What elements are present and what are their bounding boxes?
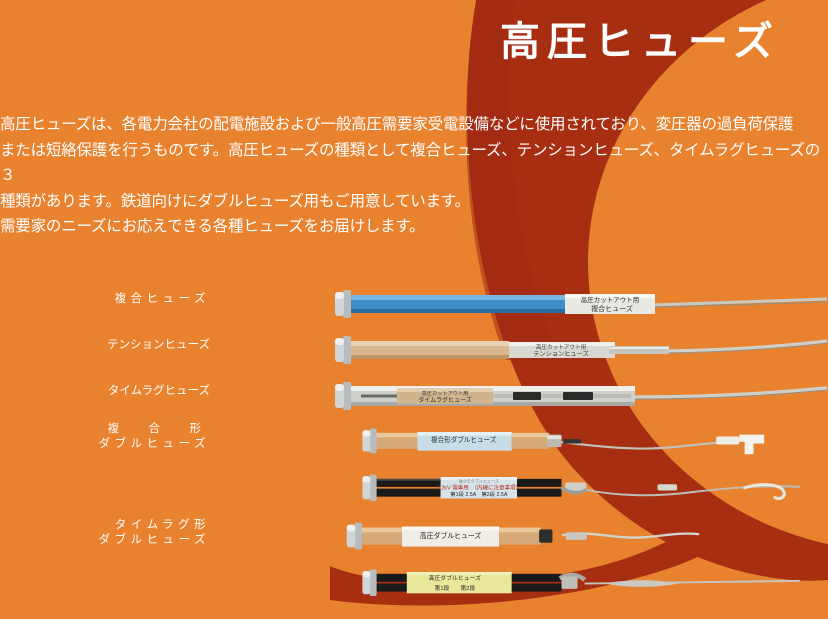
product-tag-line2: 7.2kV 電車用 （内線に注意事項） [437, 484, 521, 492]
product-tag-line1: 高圧カットアウト用 [536, 343, 586, 351]
product-image-compound-double-fuse: 複合形ダブルヒューズ [335, 424, 828, 464]
product-tag-line1: 複合形ダブルヒューズ [431, 435, 497, 444]
page-root: 高圧ヒューズ 高圧ヒューズは、各電力会社の配電施設および一般高圧需要家受電設備な… [0, 0, 828, 619]
product-image-time-lag-fuse: 高圧カットアウト用 タイムラグヒューズ [335, 378, 828, 418]
intro-line-1: 高圧ヒューズは、各電力会社の配電施設および一般高圧需要家受電設備などに使用されて… [0, 112, 828, 138]
product-image-time-lag-double-fuse-b: 高圧ダブルヒューズ 第1段 第2段 [335, 564, 828, 604]
product-label-line1: テンションヒューズ [40, 338, 210, 353]
product-image-tension-fuse: 高圧カットアウト用 テンションヒューズ [335, 332, 828, 372]
product-label-time-lag-fuse: タイムラグヒューズ [40, 384, 210, 399]
product-tag-line2: テンションヒューズ [533, 350, 588, 358]
product-label-line2: ダブルヒューズ [40, 533, 210, 548]
page-title: 高圧ヒューズ [500, 14, 828, 70]
intro-paragraph: 高圧ヒューズは、各電力会社の配電施設および一般高圧需要家受電設備などに使用されて… [0, 112, 828, 240]
product-tag-line1: 複合形ダブルヒューズ [459, 477, 500, 483]
product-image-compound-double-fuse-b: 複合形ダブルヒューズ 7.2kV 電車用 （内線に注意事項） 第1段 2.5A … [335, 470, 828, 510]
product-tag-line2: 複合ヒューズ [591, 304, 633, 313]
product-label-compound-double-fuse: 複 合 形 ダブルヒューズ [40, 422, 210, 452]
product-label-line1: タイムラグヒューズ [40, 384, 210, 399]
product-label-time-lag-double-fuse: タイムラグ形 ダブルヒューズ [40, 518, 210, 548]
product-label-tension-fuse: テンションヒューズ [40, 338, 210, 353]
product-label-line1: 複 合 形 [40, 422, 210, 437]
product-image-compound-fuse: 高圧カットアウト用 複合ヒューズ [335, 286, 828, 326]
product-tag-line2: 第1段 第2段 [435, 584, 476, 592]
product-tag-line1: 高圧ダブルヒューズ [429, 574, 482, 582]
intro-line-4: 需要家のニーズにお応えできる各種ヒューズをお届けします。 [0, 214, 828, 240]
product-label-line1: 複合ヒューズ [40, 292, 210, 307]
product-label-line1: タイムラグ形 [40, 518, 210, 533]
product-tag-line1: 高圧ダブルヒューズ [420, 531, 481, 540]
product-tag-line3: 第1段 2.5A 第2段 2.5A [450, 490, 508, 498]
product-tag-line2: タイムラグヒューズ [418, 396, 471, 404]
product-label-compound-fuse: 複合ヒューズ [40, 292, 210, 307]
intro-line-2: または短絡保護を行うものです。高圧ヒューズの種類として複合ヒューズ、テンションヒ… [0, 138, 828, 189]
intro-line-3: 種類があります。鉄道向けにダブルヒューズ用もご用意しています。 [0, 189, 828, 215]
product-label-line2: ダブルヒューズ [40, 437, 210, 452]
product-image-time-lag-double-fuse: 高圧ダブルヒューズ [335, 518, 828, 558]
product-tag-line1: 高圧カットアウト用 [581, 295, 640, 304]
product-tag-line1: 高圧カットアウト用 [422, 389, 469, 397]
product-list: 複合ヒューズ 高圧カットアウト用 複合ヒューズ [0, 270, 828, 619]
